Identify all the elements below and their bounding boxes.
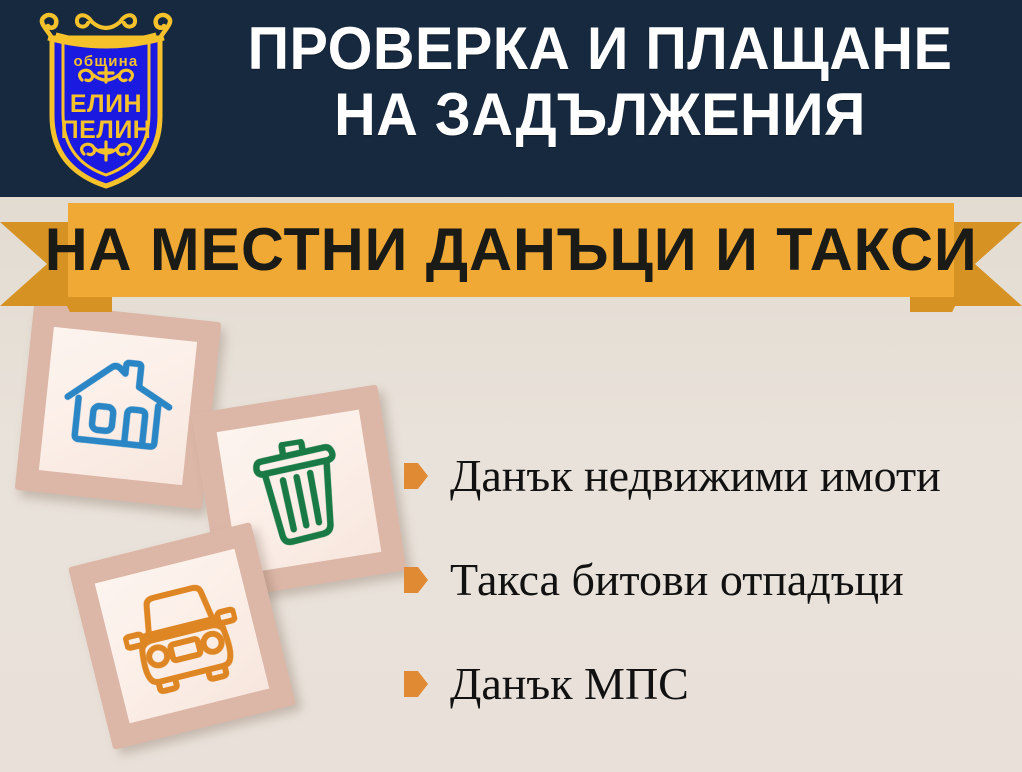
trash-bin-icon [243, 433, 354, 551]
page-title-line-1: ПРОВЕРКА И ПЛАЩАНЕ [206, 16, 993, 82]
page-title: ПРОВЕРКА И ПЛАЩАНЕ НА ЗАДЪЛЖЕНИЯ [206, 16, 993, 148]
list-item-label: Данък МПС [450, 659, 689, 709]
list-item[interactable]: Данък МПС [404, 632, 1014, 736]
ribbon-banner: НА МЕСТНИ ДАНЪЦИ И ТАКСИ [0, 196, 1022, 308]
list-item-label: Такса битови отпадъци [450, 555, 904, 605]
page-title-line-2: НА ЗАДЪЛЖЕНИЯ [206, 82, 993, 148]
arrow-right-bullet-icon [404, 463, 428, 489]
house-icon [57, 350, 179, 461]
ribbon-label: НА МЕСТНИ ДАНЪЦИ И ТАКСИ [44, 219, 977, 281]
svg-text:ЕЛИН: ЕЛИН [70, 90, 142, 118]
arrow-right-bullet-icon [404, 567, 428, 593]
list-item-label: Данък недвижими имоти [450, 451, 941, 501]
arrow-right-bullet-icon [404, 671, 428, 697]
ribbon-main-band: НА МЕСТНИ ДАНЪЦИ И ТАКСИ [68, 203, 954, 297]
car-front-icon [113, 572, 251, 701]
header-bar: община ЕЛИН ПЕЛИН [0, 0, 1022, 197]
svg-text:ПЕЛИН: ПЕЛИН [61, 116, 152, 144]
coat-of-arms-icon: община ЕЛИН ПЕЛИН [30, 8, 182, 190]
list-item[interactable]: Данък недвижими имоти [404, 424, 1014, 528]
poster-canvas: община ЕЛИН ПЕЛИН [0, 0, 1022, 772]
list-item[interactable]: Такса битови отпадъци [404, 528, 1014, 632]
tax-type-list: Данък недвижими имоти Такса битови отпад… [404, 424, 1014, 736]
stamp-card-house [15, 303, 222, 510]
stamp-paper [39, 327, 197, 485]
